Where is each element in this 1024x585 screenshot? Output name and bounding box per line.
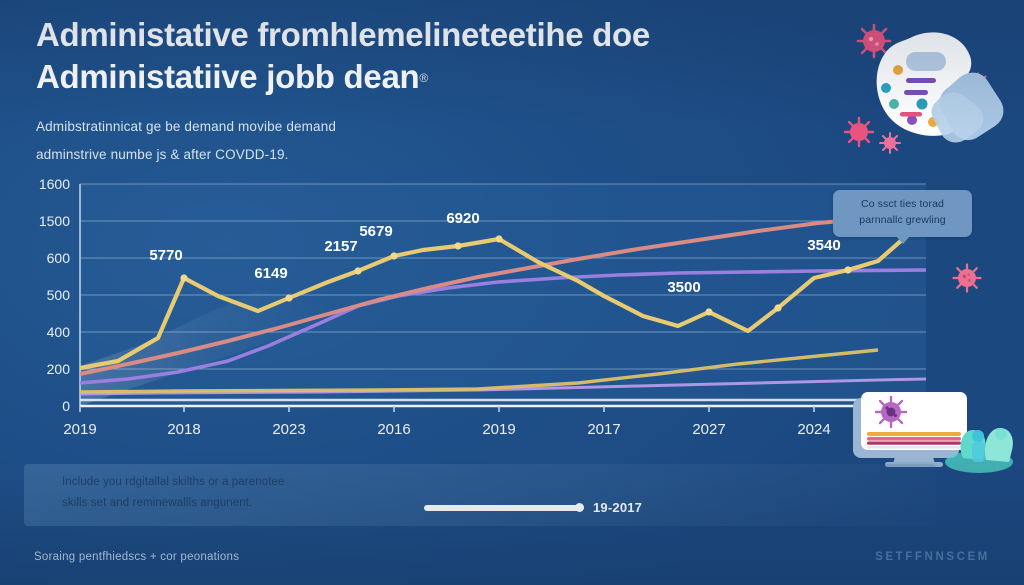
footer-description-line-2: skills set and reminewallls angunent. (62, 493, 422, 514)
palette-hole (906, 52, 946, 71)
page-subtitle-line-2: adminstrive numbe js & after COVDD-19. (36, 141, 796, 169)
page-title-line-1: Administative fromhlemelineteetihe doe (36, 14, 796, 56)
infographic-poster: Administative fromhlemelineteetihe doe A… (0, 0, 1024, 585)
data-label: 2157 (324, 238, 357, 255)
line-chart: 1600 1500 600 500 400 200 0 2019 2018 20… (18, 178, 948, 440)
data-label: 6149 (254, 265, 287, 282)
virus-particle-icon (952, 263, 982, 293)
monitor-stand (893, 450, 935, 464)
legend-line-swatch (424, 505, 579, 511)
y-tick: 500 (47, 287, 71, 303)
x-tick: 2018 (167, 421, 200, 438)
y-tick: 1500 (39, 213, 70, 229)
legend-label: 19-2017 (593, 500, 642, 515)
footer-description-line-1: Include you rdgitallal skilths or a pare… (62, 472, 422, 493)
brand-watermark: SETFFNNSCEM (875, 551, 990, 563)
page-title-line-2-text: Administatiive jobb dean (36, 58, 419, 95)
y-tick: 600 (47, 250, 71, 266)
callout-line-1: Co ssct ties torad (842, 197, 963, 213)
x-tick: 2017 (587, 421, 620, 438)
data-label: 5770 (149, 247, 182, 264)
legend-dot-swatch (575, 503, 584, 512)
page-title-line-2: Administatiive jobb dean® (36, 56, 796, 98)
x-tick: 2023 (272, 421, 305, 438)
palette-hand-virus-illustration (838, 8, 1024, 158)
y-tick: 200 (47, 361, 71, 377)
x-tick: 2019 (482, 421, 515, 438)
chart-callout-tooltip: Co ssct ties torad parnnallc grewling (833, 190, 972, 237)
data-label: 3500 (667, 279, 700, 296)
y-tick: 0 (62, 398, 70, 414)
x-tick: 2016 (377, 421, 410, 438)
x-tick: 2024 (797, 421, 830, 438)
screen-stripes (867, 432, 961, 449)
y-tick: 400 (47, 324, 71, 340)
callout-line-2: parnnallc grewling (842, 213, 963, 229)
y-axis-tick-labels: 1600 1500 600 500 400 200 0 (39, 178, 70, 414)
x-tick: 2019 (63, 421, 96, 438)
x-tick: 2027 (692, 421, 725, 438)
header: Administative fromhlemelineteetihe doe A… (36, 14, 796, 169)
data-label: 3540 (807, 237, 840, 254)
virus-particle-icon (876, 397, 906, 427)
y-tick: 1600 (39, 178, 70, 192)
footer-card: Include you rdgitallal skilths or a pare… (24, 464, 936, 526)
monitor-screen (861, 392, 967, 450)
registered-mark-icon: ® (419, 71, 428, 85)
page-subtitle: Admibstratinnicat ge be demand movibe de… (36, 113, 796, 168)
page-subtitle-line-1: Admibstratinnicat ge be demand movibe de… (36, 113, 796, 141)
footer-description: Include you rdgitallal skilths or a pare… (62, 472, 422, 515)
bottom-note: Soraing pentfhiedscs + cor peonations (34, 551, 239, 563)
chart-legend: 19-2017 (424, 500, 642, 515)
data-label: 6920 (446, 210, 479, 227)
x-axis-tick-labels: 2019 2018 2023 2016 2019 2017 2027 2024 (63, 421, 830, 438)
data-label: 5679 (359, 223, 392, 240)
